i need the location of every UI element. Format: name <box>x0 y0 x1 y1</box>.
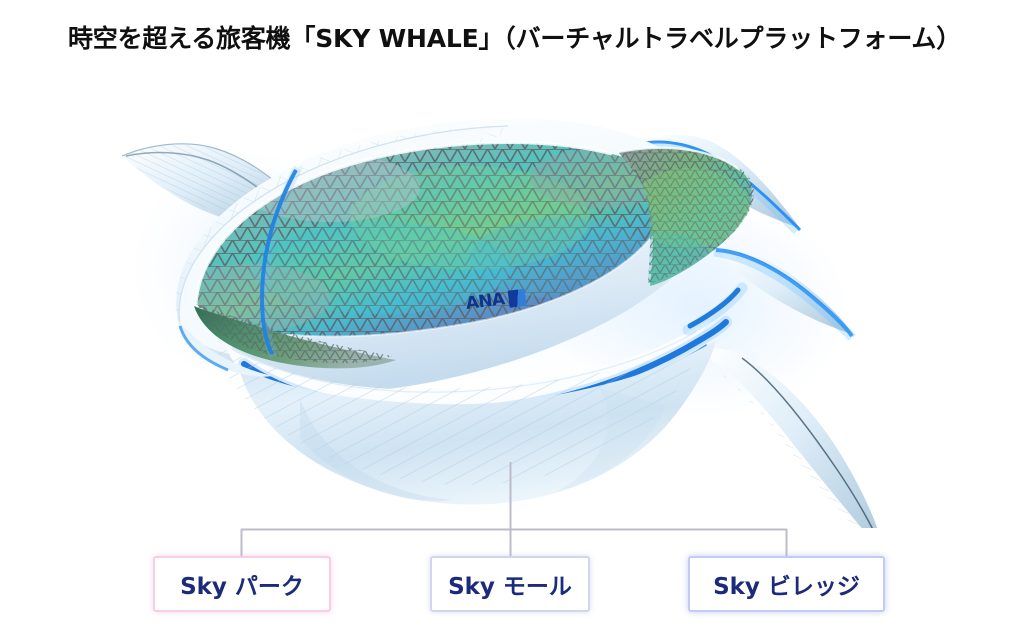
node-sky-village[interactable]: Sky ビレッジ <box>688 556 885 612</box>
node-sky-park[interactable]: Sky パーク <box>153 556 331 612</box>
node-sky-mall[interactable]: Sky モール <box>430 556 590 612</box>
node-row: Sky パーク Sky モール Sky ビレッジ <box>0 0 1013 639</box>
